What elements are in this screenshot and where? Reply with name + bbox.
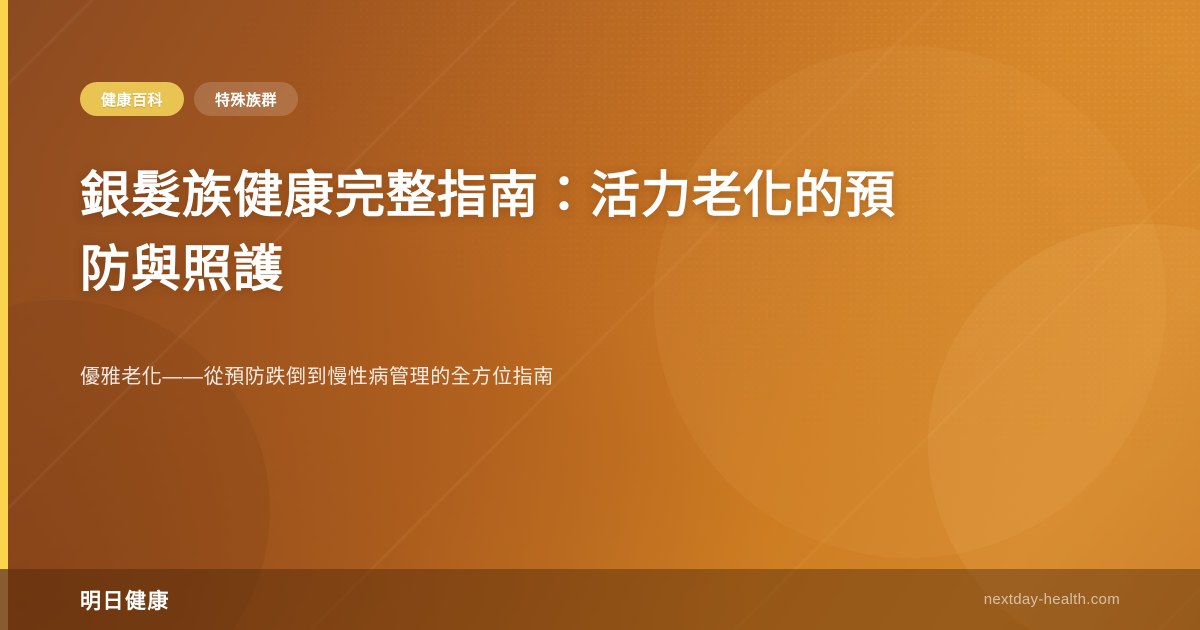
footer-brand-name: 明日健康 xyxy=(80,585,170,615)
hero-content: 健康百科 特殊族群 銀髮族健康完整指南：活力老化的預防與照護 優雅老化——從預防… xyxy=(80,0,1120,569)
left-accent-bar xyxy=(0,0,8,569)
badge-group: 健康百科 特殊族群 xyxy=(80,82,298,116)
footer-site-url: nextday-health.com xyxy=(984,591,1120,608)
badge-category-secondary[interactable]: 特殊族群 xyxy=(194,82,298,116)
page-title: 銀髮族健康完整指南：活力老化的預防與照護 xyxy=(80,158,910,306)
page-subtitle: 優雅老化——從預防跌倒到慢性病管理的全方位指南 xyxy=(80,362,980,392)
og-share-card: 健康百科 特殊族群 銀髮族健康完整指南：活力老化的預防與照護 優雅老化——從預防… xyxy=(0,0,1200,630)
badge-category-primary[interactable]: 健康百科 xyxy=(80,82,184,116)
footer-bar: 明日健康 nextday-health.com xyxy=(0,569,1200,630)
